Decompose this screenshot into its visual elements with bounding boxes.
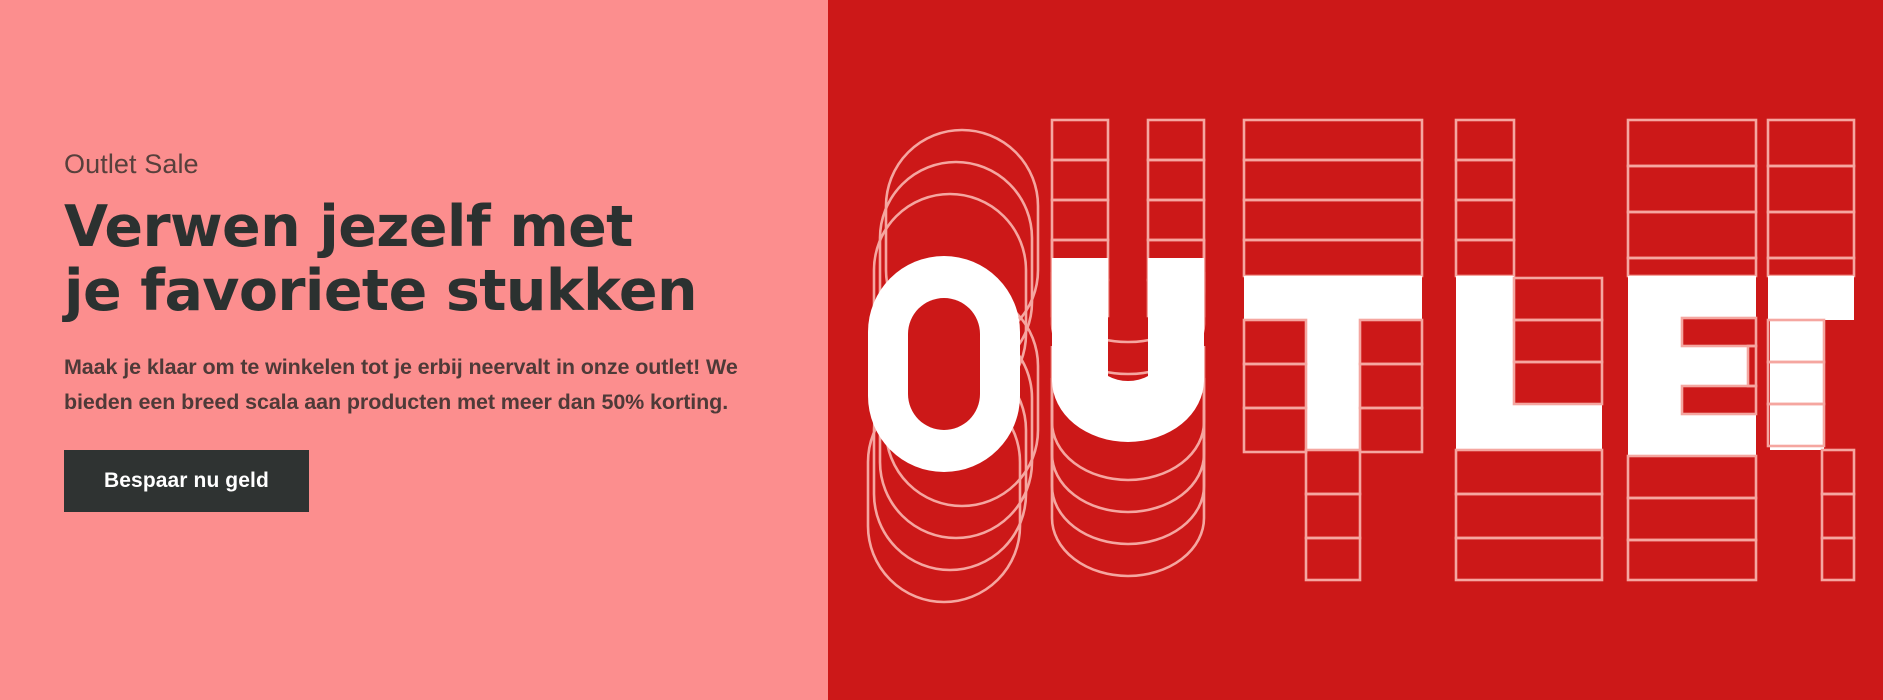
save-money-cta-button[interactable]: Bespaar nu geld — [64, 450, 309, 512]
outlet-artwork-panel — [828, 0, 1883, 700]
promo-text-panel: Outlet Sale Verwen jezelf met je favorie… — [0, 0, 828, 700]
outlet-sale-banner: Outlet Sale Verwen jezelf met je favorie… — [0, 0, 1883, 700]
letter-l-group — [1456, 120, 1602, 580]
page-title: Verwen jezelf met je favoriete stukken — [64, 196, 704, 324]
letter-u-group — [1052, 120, 1204, 576]
letter-t2-group — [1768, 120, 1854, 580]
promo-text-content: Outlet Sale Verwen jezelf met je favorie… — [64, 148, 784, 512]
letter-e-group — [1628, 120, 1756, 580]
letter-t1-group — [1244, 120, 1422, 580]
eyebrow-label: Outlet Sale — [64, 148, 784, 180]
promo-description: Maak je klaar om te winkelen tot je erbi… — [64, 350, 764, 420]
letter-o-group — [868, 130, 1038, 602]
outlet-wordmark-graphic — [856, 90, 1856, 610]
